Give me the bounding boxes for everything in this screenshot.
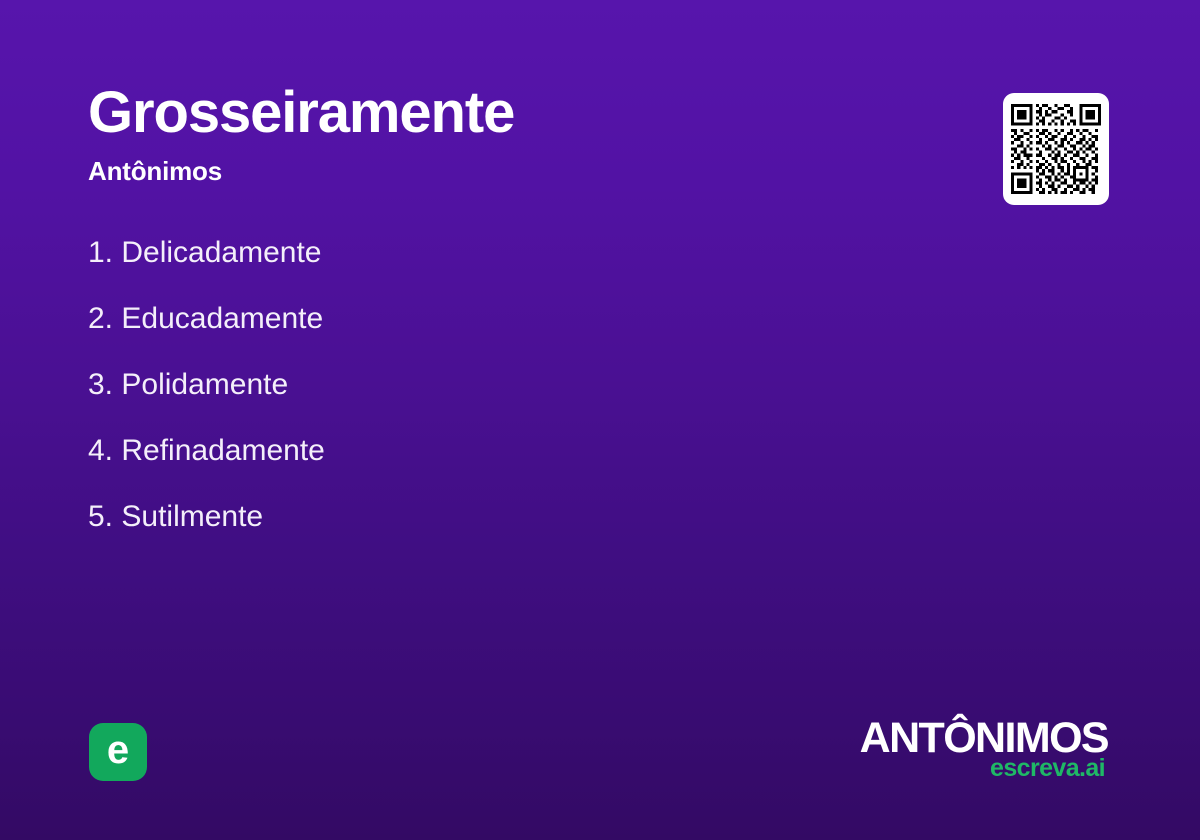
list-item-word: Educadamente (121, 302, 323, 335)
brand-wordmark: ANTÔNIMOS escreva.ai (860, 716, 1108, 781)
antonyms-card: Grosseiramente Antônimos (0, 0, 1200, 840)
list-item: 1. Delicadamente (88, 234, 868, 300)
list-item: 4. Refinadamente (88, 432, 868, 498)
qr-code-icon (1011, 104, 1101, 194)
escreva-e-badge-icon: e (89, 723, 147, 781)
list-item-index: 2. (88, 302, 113, 335)
list-item-word: Refinadamente (121, 434, 324, 467)
list-item-index: 5. (88, 500, 113, 533)
list-item-word: Sutilmente (121, 500, 263, 533)
badge-letter: e (107, 730, 129, 770)
list-item-index: 4. (88, 434, 113, 467)
page-subtitle: Antônimos (88, 142, 948, 184)
list-item: 3. Polidamente (88, 366, 868, 432)
list-item-index: 1. (88, 236, 113, 269)
list-item-word: Delicadamente (121, 236, 321, 269)
page-title: Grosseiramente (88, 84, 948, 142)
qr-code[interactable] (1003, 93, 1109, 205)
list-item: 2. Educadamente (88, 300, 868, 366)
list-item-index: 3. (88, 368, 113, 401)
antonyms-list: 1. Delicadamente 2. Educadamente 3. Poli… (88, 234, 868, 564)
list-item: 5. Sutilmente (88, 498, 868, 564)
list-item-word: Polidamente (121, 368, 288, 401)
header: Grosseiramente Antônimos (88, 84, 948, 184)
